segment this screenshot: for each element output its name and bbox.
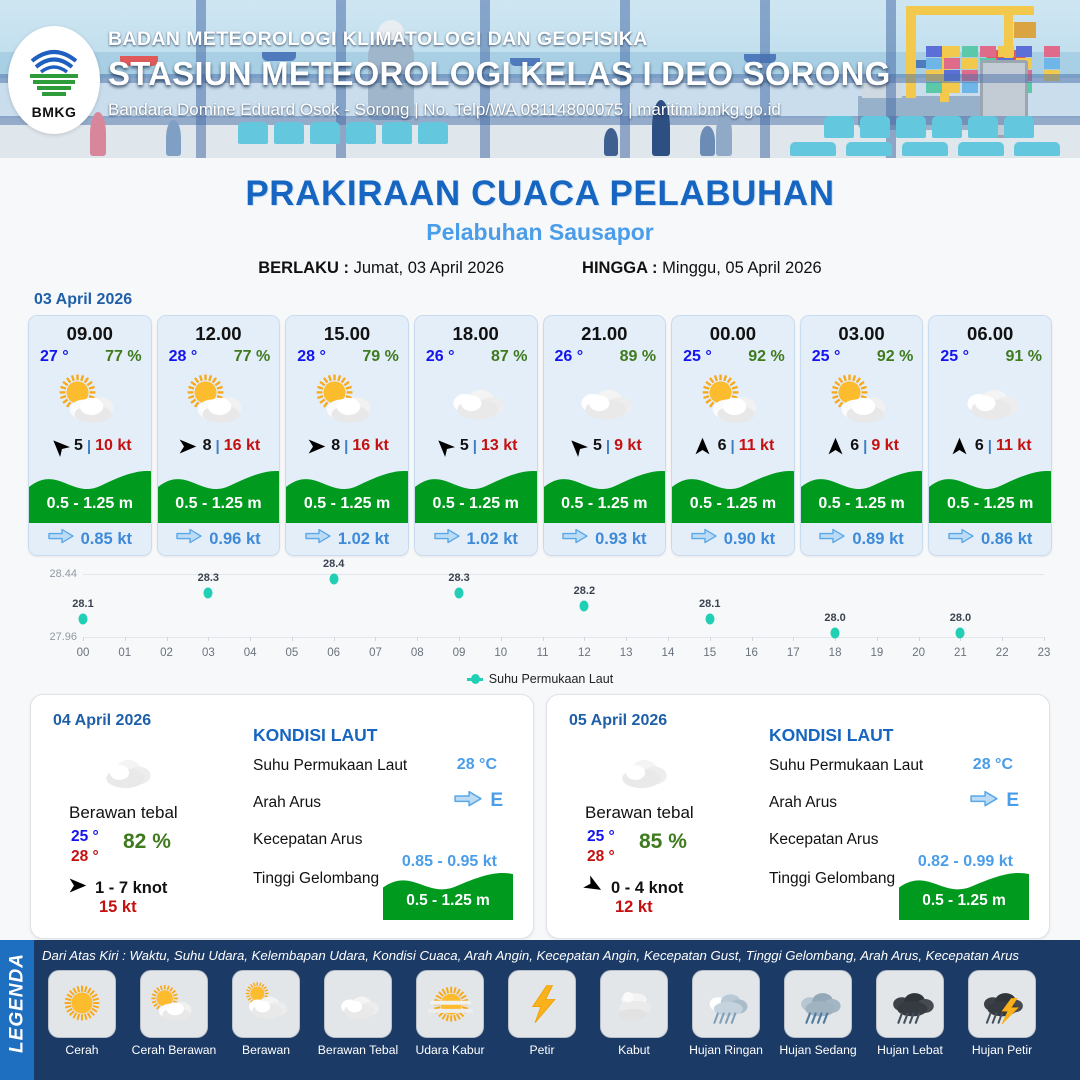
card-temperature: 25 ° [683,348,712,366]
card-wind-row: 5 | 13 kt [415,432,537,460]
legend-item: Kabut [592,970,676,1057]
card-wind-row: 6 | 11 kt [672,432,794,460]
legend-sun-cloud-more-icon [232,970,300,1038]
chart-point-label: 28.3 [198,572,219,584]
card-separator: | [473,438,477,455]
card-current-speed: 0.85 kt [81,530,132,549]
day-current-arrow-icon [970,790,998,812]
chart-point-label: 28.2 [574,585,595,597]
card-wave-band: 0.5 - 1.25 m [286,461,408,523]
day-wave-band: 0.5 - 1.25 m [383,864,513,920]
card-current-row: 1.02 kt [286,523,408,555]
chart-x-tick [375,637,376,641]
chart-x-tick [584,637,585,641]
legend-item: Berawan [224,970,308,1057]
sst-value: 28 °C [457,756,497,774]
day-gust: 15 kt [99,898,137,917]
chart-x-tick [334,637,335,641]
chart-point-label: 28.1 [699,598,720,610]
card-separator: | [606,438,610,455]
chart-data-point [705,614,714,625]
card-wind-speed: 8 [331,437,340,455]
legend-sun-cloud-icon [140,970,208,1038]
card-wave-band: 0.5 - 1.25 m [158,461,280,523]
chart-x-tick-label: 05 [286,647,299,659]
forecast-date-label: 03 April 2026 [34,291,1080,309]
forecast-card: 03.00 25 ° 92 % 6 | 9 kt 0.5 - 1.25 m [800,315,924,556]
wind-direction-arrow-icon [305,435,327,457]
wind-direction-arrow-icon [824,435,846,457]
legend-moderate-rain-icon [784,970,852,1038]
wind-direction-arrow-icon [434,435,456,457]
card-wave-height: 0.5 - 1.25 m [929,495,1051,513]
chart-x-tick-label: 16 [745,647,758,659]
card-temperature: 26 ° [426,348,455,366]
page-title-block: PRAKIRAAN CUACA PELABUHAN Pelabuhan Saus… [0,174,1080,278]
day-date: 05 April 2026 [569,712,667,730]
current-direction-arrow-icon [48,528,74,549]
current-direction-arrow-icon [948,528,974,549]
chart-x-tick-label: 10 [494,647,507,659]
legend-item: Berawan Tebal [316,970,400,1057]
card-gust-speed: 13 kt [481,437,517,455]
card-wave-height: 0.5 - 1.25 m [544,495,666,513]
card-humidity: 92 % [877,348,913,366]
current-direction-value: E [490,790,503,812]
card-temp-humidity-row: 28 ° 79 % [286,345,408,366]
chart-x-tick-label: 21 [954,647,967,659]
valid-from-value: Jumat, 03 April 2026 [354,259,504,277]
chart-legend-marker-icon [467,678,483,681]
card-time: 18.00 [415,316,537,345]
daily-summary-list: 04 April 2026 Berawan tebal 25 ° 28 ° 82… [0,686,1080,939]
chart-x-tick [459,637,460,641]
legend-item: Cerah Berawan [132,970,216,1057]
validity-row: BERLAKU : Jumat, 03 April 2026 HINGGA : … [0,259,1080,278]
card-weather-sun-cloud-icon [672,368,794,430]
card-wind-row: 8 | 16 kt [286,432,408,460]
day-humidity: 82 % [123,830,171,854]
legend-sun-icon [48,970,116,1038]
card-wave-band: 0.5 - 1.25 m [29,461,151,523]
chart-x-tick-label: 15 [703,647,716,659]
chart-x-tick-label: 02 [160,647,173,659]
card-gust-speed: 10 kt [95,437,131,455]
card-temp-humidity-row: 27 ° 77 % [29,345,151,366]
chart-data-point [580,601,589,612]
day-temp-min: 25 ° [71,828,99,846]
wind-direction-arrow-icon [949,435,971,457]
contact-line: Bandara Domine Eduard Osok - Sorong | No… [108,100,891,120]
chart-data-point [831,627,840,638]
day-humidity: 85 % [639,830,687,854]
chart-x-tick [710,637,711,641]
card-temp-humidity-row: 26 ° 89 % [544,345,666,366]
valid-from: BERLAKU : Jumat, 03 April 2026 [258,259,504,278]
chart-x-tick [793,637,794,641]
card-gust-speed: 16 kt [352,437,388,455]
card-temp-humidity-row: 26 ° 87 % [415,345,537,366]
legend-item: Cerah [40,970,124,1057]
chart-point-label: 28.4 [323,558,344,570]
card-wave-height: 0.5 - 1.25 m [158,495,280,513]
chart-x-tick [501,637,502,641]
chart-x-tick-label: 04 [244,647,257,659]
legend-item: Hujan Lebat [868,970,952,1057]
banner-text-block: BADAN METEOROLOGI KLIMATOLOGI DAN GEOFIS… [108,28,891,120]
chart-point-label: 28.0 [950,612,971,624]
card-wind-speed: 6 [718,437,727,455]
header-banner: BMKG BADAN METEOROLOGI KLIMATOLOGI DAN G… [0,0,1080,158]
chart-x-tick-label: 23 [1038,647,1051,659]
legend-item-label: Udara Kabur [415,1043,484,1057]
current-direction-arrow-icon [176,528,202,549]
card-weather-sun-cloud-icon [286,368,408,430]
legend-fog-icon [600,970,668,1038]
forecast-card: 15.00 28 ° 79 % 8 | 16 kt 0.5 - 1.25 m [285,315,409,556]
card-wave-height: 0.5 - 1.25 m [29,495,151,513]
card-gust-speed: 11 kt [739,437,775,455]
wind-direction-arrow-icon [177,435,199,457]
card-humidity: 89 % [620,348,656,366]
forecast-card: 09.00 27 ° 77 % 5 | 10 kt 0.5 - 1.25 m [28,315,152,556]
card-wind-speed: 5 [593,437,602,455]
card-time: 03.00 [801,316,923,345]
day-wind-direction-arrow-icon [67,875,88,901]
legend-item-label: Hujan Ringan [689,1043,763,1057]
chart-data-point [329,574,338,585]
card-current-row: 0.86 kt [929,523,1051,555]
current-direction-arrow-icon [562,528,588,549]
day-temp-max: 28 ° [587,848,615,866]
card-humidity: 79 % [362,348,398,366]
card-time: 21.00 [544,316,666,345]
card-current-speed: 1.02 kt [467,530,518,549]
chart-x-tick [167,637,168,641]
legend-thunderstorm-icon [968,970,1036,1038]
card-temperature: 26 ° [555,348,584,366]
daily-summary-card: 05 April 2026 Berawan tebal 25 ° 28 ° 85… [546,694,1050,939]
chart-x-tick-label: 03 [202,647,215,659]
chart-gridline [83,574,1044,575]
card-current-speed: 0.90 kt [724,530,775,549]
card-humidity: 77 % [105,348,141,366]
sst-chart-plot: 27.9628.44000102030405060708091011121314… [83,574,1044,638]
day-temp-max: 28 ° [71,848,99,866]
card-temperature: 27 ° [40,348,69,366]
chart-x-tick-label: 17 [787,647,800,659]
day-wind-range: 1 - 7 knot [95,879,167,898]
card-temp-humidity-row: 28 ° 77 % [158,345,280,366]
card-humidity: 91 % [1006,348,1042,366]
current-direction-arrow-icon [691,528,717,549]
current-direction-value-row: E [454,790,503,812]
card-current-row: 0.96 kt [158,523,280,555]
legend-item-label: Hujan Lebat [877,1043,943,1057]
chart-gridline [83,637,1044,638]
legend-item-label: Cerah Berawan [132,1043,217,1057]
card-separator: | [730,438,734,455]
card-time: 15.00 [286,316,408,345]
chart-x-tick [919,637,920,641]
chart-x-tick-label: 22 [996,647,1009,659]
chart-x-tick-label: 14 [662,647,675,659]
chart-x-tick-label: 20 [912,647,925,659]
valid-until-label: HINGGA : [582,259,657,277]
card-weather-cloudy-icon [544,368,666,430]
current-speed-label: Kecepatan Arus [769,831,878,849]
legend-item-list: Cerah Cerah Berawan Berawan [40,970,1076,1057]
card-current-row: 0.90 kt [672,523,794,555]
legend-item-label: Berawan Tebal [318,1043,398,1057]
current-direction-arrow-icon [819,528,845,549]
card-temp-humidity-row: 25 ° 91 % [929,345,1051,366]
sst-chart: 27.9628.44000102030405060708091011121314… [28,566,1052,666]
current-speed-label: Kecepatan Arus [253,831,362,849]
day-current-arrow-icon [454,790,482,812]
legend-haze-icon [416,970,484,1038]
current-direction-value: E [1006,790,1019,812]
forecast-card: 21.00 26 ° 89 % 5 | 9 kt 0.5 - 1.25 m 0. [543,315,667,556]
chart-data-point [204,587,213,598]
card-wind-row: 8 | 16 kt [158,432,280,460]
legend-item-label: Petir [529,1043,554,1057]
card-weather-sun-cloud-icon [158,368,280,430]
station-name: STASIUN METEOROLOGI KELAS I DEO SORONG [108,55,891,93]
card-wave-height: 0.5 - 1.25 m [672,495,794,513]
card-temp-humidity-row: 25 ° 92 % [672,345,794,366]
chart-y-tick-label: 28.44 [49,568,77,580]
chart-data-point [455,587,464,598]
card-wave-height: 0.5 - 1.25 m [286,495,408,513]
card-wind-row: 5 | 9 kt [544,432,666,460]
bmkg-logo: BMKG [8,26,100,134]
card-weather-cloudy-icon [929,368,1051,430]
chart-x-tick [668,637,669,641]
card-wave-height: 0.5 - 1.25 m [415,495,537,513]
forecast-card: 12.00 28 ° 77 % 8 | 16 kt 0.5 - 1.25 m [157,315,281,556]
chart-x-tick [125,637,126,641]
legend-note: Dari Atas Kiri : Waktu, Suhu Udara, Kele… [42,948,1019,963]
legend-item-label: Hujan Sedang [779,1043,856,1057]
card-wave-height: 0.5 - 1.25 m [801,495,923,513]
card-humidity: 77 % [234,348,270,366]
valid-from-label: BERLAKU : [258,259,349,277]
chart-legend-label: Suhu Permukaan Laut [489,672,613,686]
sst-label: Suhu Permukaan Laut [769,757,923,775]
card-current-speed: 0.86 kt [981,530,1032,549]
card-current-row: 0.93 kt [544,523,666,555]
card-separator: | [344,438,348,455]
chart-x-tick [292,637,293,641]
legend-item-label: Kabut [618,1043,650,1057]
card-wind-row: 6 | 11 kt [929,432,1051,460]
bmkg-logo-text: BMKG [32,104,77,120]
chart-x-tick-label: 11 [537,647,549,659]
card-current-row: 1.02 kt [415,523,537,555]
card-separator: | [216,438,220,455]
sea-condition-title: KONDISI LAUT [253,725,377,746]
legend-light-rain-icon [692,970,760,1038]
legend-lightning-icon [508,970,576,1038]
card-time: 12.00 [158,316,280,345]
wave-height-label: Tinggi Gelombang [253,870,379,888]
legend-section: LEGENDA Dari Atas Kiri : Waktu, Suhu Uda… [0,940,1080,1080]
card-temp-humidity-row: 25 ° 92 % [801,345,923,366]
sst-label: Suhu Permukaan Laut [253,757,407,775]
card-temperature: 28 ° [169,348,198,366]
card-current-speed: 0.93 kt [595,530,646,549]
card-separator: | [87,438,91,455]
card-weather-sun-cloud-icon [801,368,923,430]
sst-value: 28 °C [973,756,1013,774]
wave-height-label: Tinggi Gelombang [769,870,895,888]
chart-x-tick-label: 09 [453,647,466,659]
legend-cloudy-icon [324,970,392,1038]
wind-direction-arrow-icon [48,435,70,457]
card-wave-band: 0.5 - 1.25 m [672,461,794,523]
card-current-speed: 1.02 kt [338,530,389,549]
card-wave-band: 0.5 - 1.25 m [929,461,1051,523]
day-weather-cloudy-icon [87,740,161,803]
forecast-card: 18.00 26 ° 87 % 5 | 13 kt 0.5 - 1.25 m 1 [414,315,538,556]
daily-summary-card: 04 April 2026 Berawan tebal 25 ° 28 ° 82… [30,694,534,939]
chart-x-tick-label: 01 [118,647,131,659]
card-humidity: 87 % [491,348,527,366]
legend-item: Hujan Ringan [684,970,768,1057]
card-gust-speed: 9 kt [614,437,642,455]
chart-x-tick [208,637,209,641]
card-time: 09.00 [29,316,151,345]
legend-item-label: Hujan Petir [972,1043,1032,1057]
card-wind-speed: 5 [460,437,469,455]
current-direction-value-row: E [970,790,1019,812]
day-temp-min: 25 ° [587,828,615,846]
card-time: 06.00 [929,316,1051,345]
chart-x-tick-label: 18 [829,647,842,659]
valid-until-value: Minggu, 05 April 2026 [662,259,822,277]
card-gust-speed: 16 kt [224,437,260,455]
page-subtitle: Pelabuhan Sausapor [0,219,1080,246]
chart-x-tick [877,637,878,641]
day-weather-cloudy-icon [603,740,677,803]
legend-item-label: Berawan [242,1043,290,1057]
card-wind-speed: 8 [203,437,212,455]
day-wave-value: 0.5 - 1.25 m [383,892,513,910]
chart-x-tick-label: 19 [870,647,883,659]
card-time: 00.00 [672,316,794,345]
chart-x-tick [1044,637,1045,641]
chart-x-tick [1002,637,1003,641]
card-wave-band: 0.5 - 1.25 m [415,461,537,523]
wind-direction-arrow-icon [692,435,714,457]
chart-point-label: 28.1 [72,598,93,610]
chart-x-tick-label: 08 [411,647,424,659]
legend-item: Hujan Sedang [776,970,860,1057]
legend-heavy-rain-icon [876,970,944,1038]
agency-name: BADAN METEOROLOGI KLIMATOLOGI DAN GEOFIS… [108,28,891,51]
card-wind-speed: 5 [74,437,83,455]
card-wind-speed: 6 [975,437,984,455]
card-wave-band: 0.5 - 1.25 m [544,461,666,523]
card-weather-cloudy-icon [415,368,537,430]
card-wind-row: 6 | 9 kt [801,432,923,460]
chart-data-point [79,614,88,625]
forecast-card: 06.00 25 ° 91 % 6 | 11 kt 0.5 - 1.25 m 0 [928,315,1052,556]
card-wave-band: 0.5 - 1.25 m [801,461,923,523]
card-temperature: 28 ° [297,348,326,366]
card-humidity: 92 % [748,348,784,366]
legend-item-label: Cerah [65,1043,98,1057]
current-direction-label: Arah Arus [253,794,321,812]
day-wave-band: 0.5 - 1.25 m [899,864,1029,920]
legend-item: Petir [500,970,584,1057]
forecast-card: 00.00 25 ° 92 % 6 | 11 kt 0.5 - 1.25 m [671,315,795,556]
chart-x-tick [543,637,544,641]
chart-point-label: 28.3 [448,572,469,584]
chart-x-tick-label: 07 [369,647,382,659]
card-gust-speed: 9 kt [871,437,899,455]
chart-x-tick [626,637,627,641]
chart-x-tick-label: 00 [77,647,90,659]
card-temperature: 25 ° [812,348,841,366]
day-wind-range: 0 - 4 knot [611,879,683,898]
sea-condition-title: KONDISI LAUT [769,725,893,746]
chart-x-tick-label: 06 [327,647,340,659]
chart-point-label: 28.0 [824,612,845,624]
current-direction-arrow-icon [305,528,331,549]
chart-x-tick [417,637,418,641]
card-wind-speed: 6 [850,437,859,455]
card-weather-sun-cloud-icon [29,368,151,430]
card-separator: | [988,438,992,455]
day-wind-direction-arrow-icon [583,875,604,901]
day-condition: Berawan tebal [585,803,694,823]
wind-direction-arrow-icon [567,435,589,457]
current-direction-arrow-icon [434,528,460,549]
forecast-card-list: 09.00 27 ° 77 % 5 | 10 kt 0.5 - 1.25 m [0,315,1080,556]
day-wave-value: 0.5 - 1.25 m [899,892,1029,910]
chart-x-tick [250,637,251,641]
card-separator: | [863,438,867,455]
legend-item: Udara Kabur [408,970,492,1057]
legend-side-bar: LEGENDA [0,940,34,1080]
day-date: 04 April 2026 [53,712,151,730]
chart-x-tick-label: 12 [578,647,591,659]
chart-y-tick-label: 27.96 [49,631,77,643]
bmkg-emblem-icon [24,41,84,103]
card-gust-speed: 11 kt [996,437,1032,455]
valid-until: HINGGA : Minggu, 05 April 2026 [582,259,822,278]
current-direction-label: Arah Arus [769,794,837,812]
card-wind-row: 5 | 10 kt [29,432,151,460]
card-temperature: 25 ° [940,348,969,366]
day-gust: 12 kt [615,898,653,917]
chart-x-tick [752,637,753,641]
chart-x-tick-label: 13 [620,647,633,659]
chart-x-tick [83,637,84,641]
legend-item: Hujan Petir [960,970,1044,1057]
page-title: PRAKIRAAN CUACA PELABUHAN [0,174,1080,214]
card-current-speed: 0.89 kt [852,530,903,549]
legend-side-title: LEGENDA [7,946,29,1061]
card-current-speed: 0.96 kt [209,530,260,549]
day-condition: Berawan tebal [69,803,178,823]
card-current-row: 0.89 kt [801,523,923,555]
card-current-row: 0.85 kt [29,523,151,555]
chart-legend: Suhu Permukaan Laut [0,672,1080,686]
chart-data-point [956,627,965,638]
